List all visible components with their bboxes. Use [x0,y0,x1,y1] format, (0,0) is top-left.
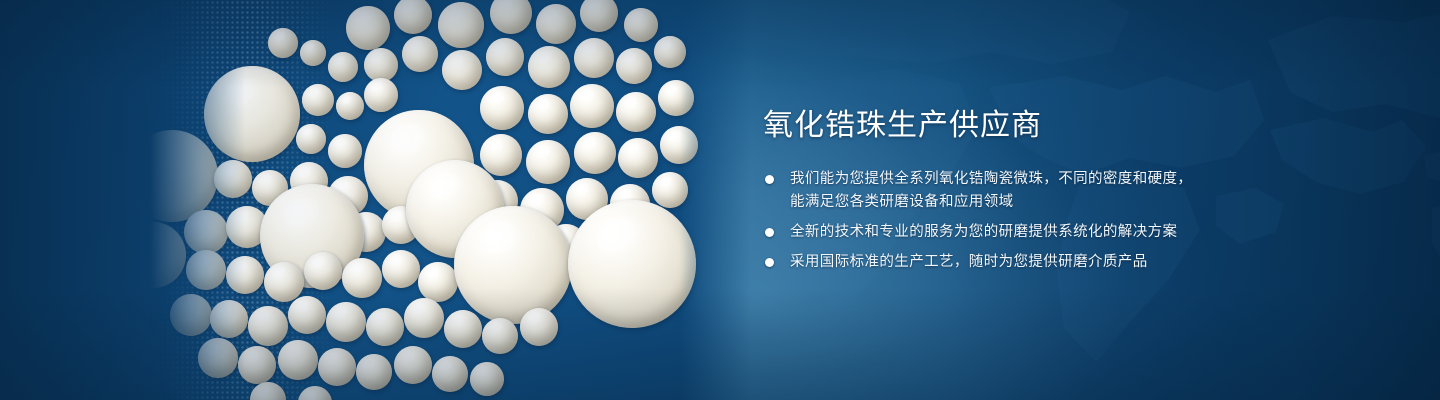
bullet-dot-icon [765,175,774,184]
bullet-dot-icon [765,258,774,267]
list-item: 我们能为您提供全系列氧化锆陶瓷微珠，不同的密度和硬度， 能满足您各类研磨设备和应… [763,168,1323,214]
hero-banner: 氧化锆珠生产供应商 我们能为您提供全系列氧化锆陶瓷微珠，不同的密度和硬度， 能满… [0,0,1440,400]
list-item: 采用国际标准的生产工艺，随时为您提供研磨介质产品 [763,251,1323,274]
page-title: 氧化锆珠生产供应商 [763,106,1323,146]
bullet-line-primary: 我们能为您提供全系列氧化锆陶瓷微珠，不同的密度和硬度， [790,168,1323,191]
bullet-line-secondary: 能满足您各类研磨设备和应用领域 [790,191,1323,214]
list-item: 全新的技术和专业的服务为您的研磨提供系统化的解决方案 [763,221,1323,244]
bullet-line-primary: 全新的技术和专业的服务为您的研磨提供系统化的解决方案 [790,221,1323,244]
feature-bullet-list: 我们能为您提供全系列氧化锆陶瓷微珠，不同的密度和硬度， 能满足您各类研磨设备和应… [763,168,1323,274]
hero-copy-block: 氧化锆珠生产供应商 我们能为您提供全系列氧化锆陶瓷微珠，不同的密度和硬度， 能满… [763,106,1323,274]
bullet-line-primary: 采用国际标准的生产工艺，随时为您提供研磨介质产品 [790,251,1323,274]
bullet-dot-icon [765,228,774,237]
